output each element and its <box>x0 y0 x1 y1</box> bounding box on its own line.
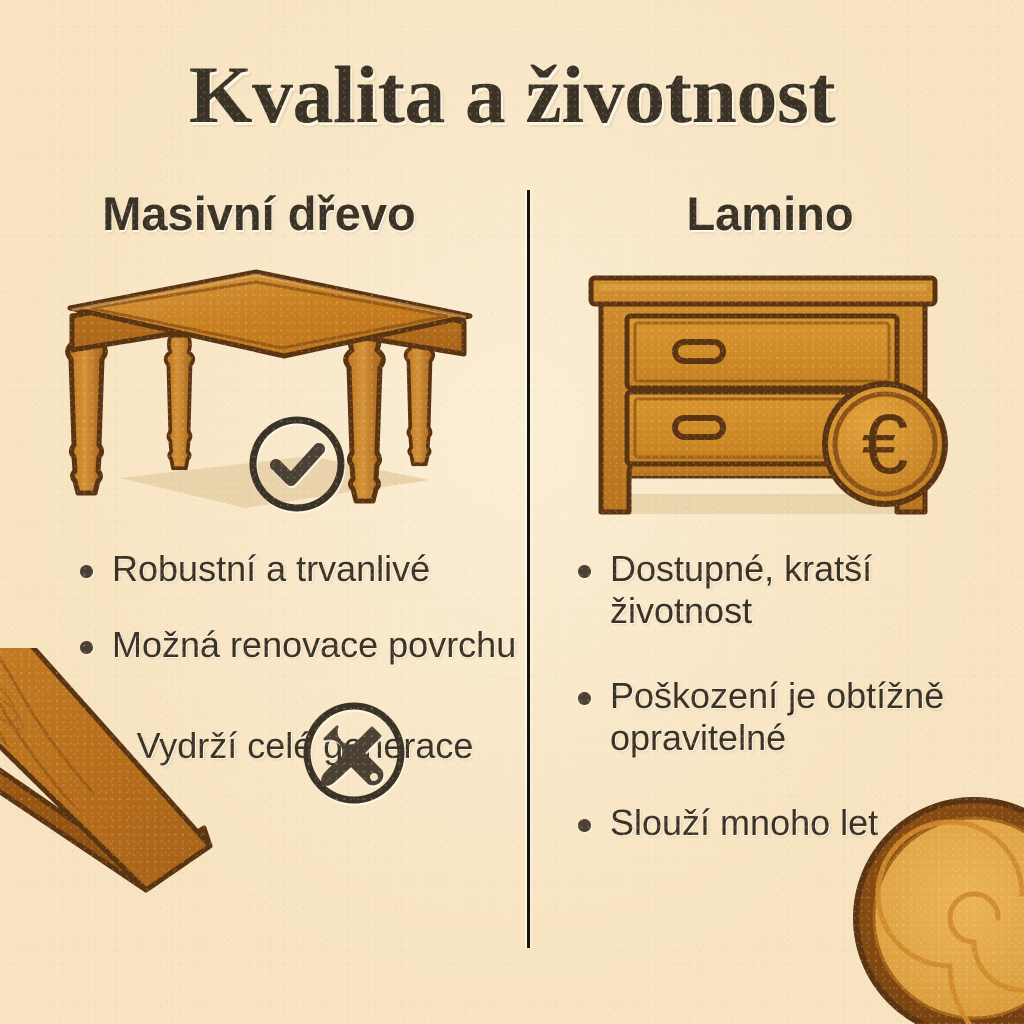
bullet-dot-icon <box>578 819 591 832</box>
list-item: Robustní a trvanlivé <box>80 548 530 590</box>
svg-text:€: € <box>862 397 909 491</box>
laminate-dresser-illustration: € <box>575 262 975 537</box>
list-item: Dostupné, kratší životnost <box>578 548 1010 633</box>
euro-coin-icon: € <box>825 384 945 504</box>
bullet-dot-icon <box>80 565 93 578</box>
list-item: Slouží mnoho let <box>578 802 1010 844</box>
page-title: Kvalita a životnost <box>0 48 1024 142</box>
bullet-dot-icon <box>578 692 591 705</box>
list-item-label: Slouží mnoho let <box>610 802 878 844</box>
column-header-right: Lamino <box>540 186 1000 241</box>
bullet-list-right: Dostupné, kratší životnost Poškození je … <box>578 548 1010 886</box>
list-item: Poškození je obtížně opravitelné <box>578 675 1010 760</box>
list-item-label: Robustní a trvanlivé <box>112 548 430 590</box>
tools-icon <box>296 695 412 816</box>
check-circle-icon <box>245 412 349 521</box>
list-item-label: Možná renovace povrchu <box>112 624 516 666</box>
list-item: Možná renovace povrchu <box>80 624 530 666</box>
infographic-canvas: Kvalita a životnost Masivní dřevo Lamino <box>0 0 1024 1024</box>
bullet-dot-icon <box>80 641 93 654</box>
column-header-left: Masivní dřevo <box>0 186 518 241</box>
list-item-label: Poškození je obtížně opravitelné <box>610 675 1010 760</box>
bullet-dot-icon <box>578 565 591 578</box>
list-item-label: Dostupné, kratší životnost <box>610 548 1010 633</box>
